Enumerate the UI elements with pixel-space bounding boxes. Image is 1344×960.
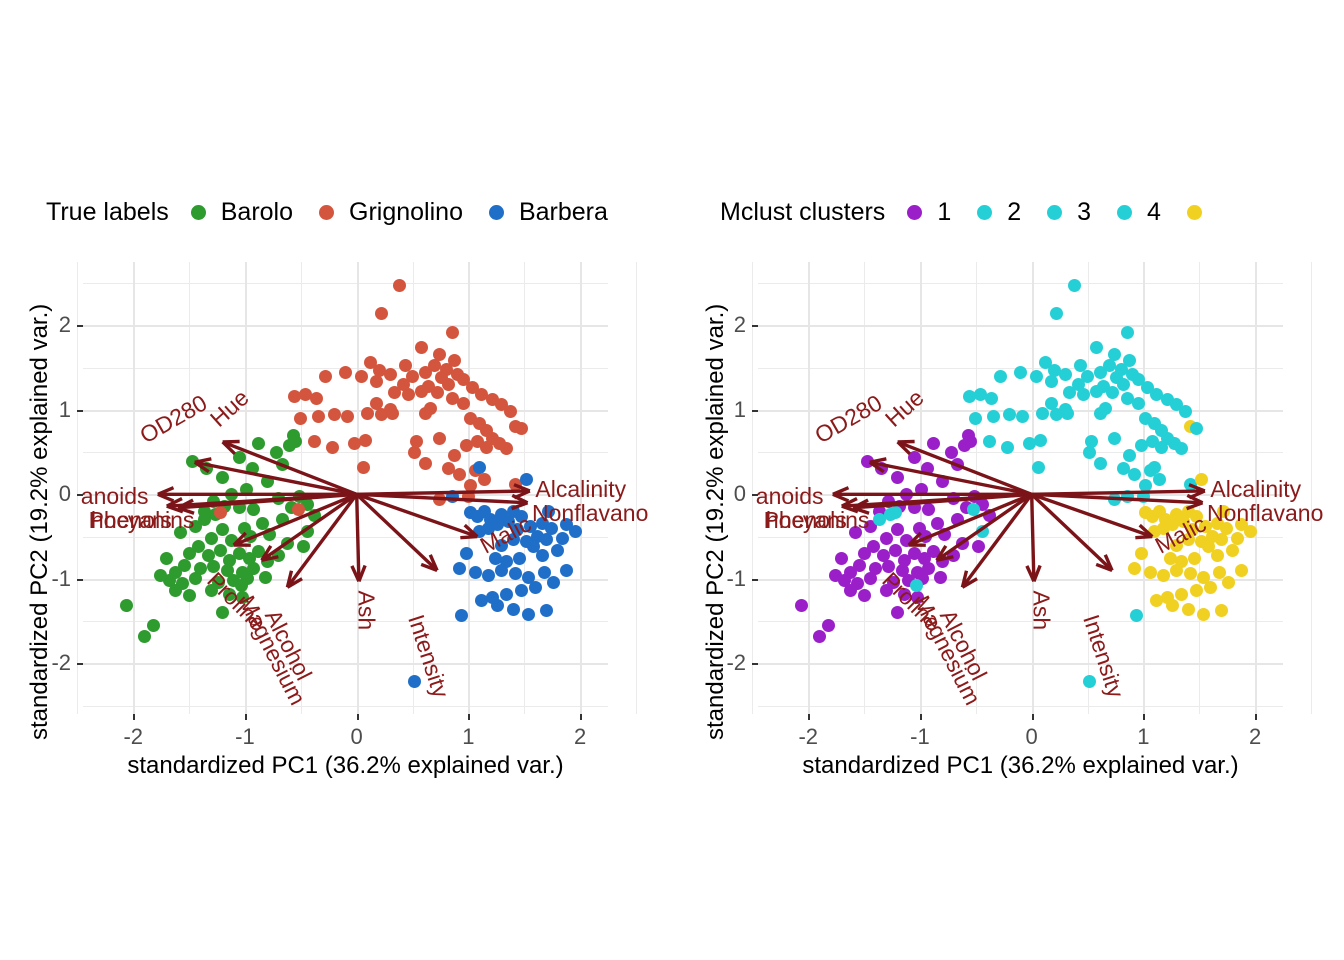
legend-item[interactable]: Barbera <box>489 198 608 227</box>
y-tick-label: -2 <box>706 650 746 676</box>
y-tick-mark <box>752 579 758 581</box>
scatter-point <box>889 506 902 519</box>
scatter-point <box>861 455 874 468</box>
scatter-point <box>1204 581 1217 594</box>
scatter-point <box>1030 370 1043 383</box>
scatter-point <box>1016 410 1029 423</box>
loading-arrow-malic <box>1032 494 1153 536</box>
scatter-point <box>1090 385 1103 398</box>
legend-item[interactable]: Barolo <box>191 198 293 227</box>
scatter-point <box>964 435 977 448</box>
y-tick-mark <box>77 579 83 581</box>
scatter-point <box>1190 584 1203 597</box>
scatter-point <box>985 392 998 405</box>
scatter-point <box>189 572 202 585</box>
scatter-point <box>915 483 928 496</box>
scatter-point <box>1123 449 1136 462</box>
scatter-point <box>478 473 491 486</box>
scatter-point <box>507 603 520 616</box>
scatter-point <box>357 461 370 474</box>
scatter-point <box>292 503 305 516</box>
gridline-minor-vertical <box>752 262 753 714</box>
scatter-point <box>900 534 913 547</box>
gridline-minor-vertical <box>864 262 865 714</box>
scatter-point <box>393 279 406 292</box>
x-tick-label: -1 <box>900 724 940 750</box>
scatter-point <box>880 532 893 545</box>
scatter-point <box>457 397 470 410</box>
x-tick-label: -2 <box>788 724 828 750</box>
scatter-point <box>276 458 289 471</box>
scatter-point <box>419 366 432 379</box>
gridline-minor-horizontal <box>83 452 608 453</box>
scatter-point <box>308 435 321 448</box>
legend-item[interactable]: Grignolino <box>319 198 463 227</box>
scatter-point <box>301 525 314 538</box>
scatter-point <box>453 562 466 575</box>
arrowhead-icon <box>512 495 527 502</box>
scatter-point <box>1215 533 1228 546</box>
x-tick-label: 1 <box>448 724 488 750</box>
scatter-point <box>522 608 535 621</box>
legend-item[interactable] <box>1187 205 1217 220</box>
scatter-point <box>348 437 361 450</box>
x-tick-mark <box>920 714 922 720</box>
gridline-major-horizontal <box>758 663 1283 665</box>
scatter-point <box>515 584 528 597</box>
scatter-point <box>1135 547 1148 560</box>
arrowhead-icon <box>833 488 849 495</box>
scatter-point <box>956 537 969 550</box>
gridline-major-horizontal <box>83 494 608 496</box>
scatter-point <box>938 528 951 541</box>
scatter-point <box>154 569 167 582</box>
scatter-point <box>520 473 533 486</box>
scatter-point <box>835 552 848 565</box>
scatter-point <box>994 370 1007 383</box>
scatter-point <box>1121 490 1134 503</box>
panel-mclust-clusters: Mclust clusters1234 standardized PC2 (19… <box>690 0 1344 960</box>
loading-arrow-intensity <box>1032 494 1112 570</box>
scatter-point <box>509 567 522 580</box>
legend-item[interactable]: 2 <box>977 198 1021 227</box>
legend-label: Barolo <box>221 198 293 227</box>
y-tick-mark <box>752 494 758 496</box>
scatter-point <box>972 540 985 553</box>
x-tick-mark <box>580 714 582 720</box>
panel-true-labels: True labelsBaroloGrignolinoBarbera stand… <box>0 0 690 960</box>
scatter-point <box>540 533 553 546</box>
x-tick-label: 2 <box>1235 724 1275 750</box>
scatter-point <box>947 549 960 562</box>
scatter-point <box>1106 386 1119 399</box>
scatter-point <box>1059 403 1072 416</box>
scatter-point <box>138 630 151 643</box>
scatter-point <box>328 408 341 421</box>
gridline-major-vertical <box>357 262 359 714</box>
legend-swatch-icon <box>191 205 206 220</box>
scatter-point <box>1215 604 1228 617</box>
scatter-point <box>951 458 964 471</box>
scatter-point <box>370 375 383 388</box>
scatter-point <box>415 385 428 398</box>
scatter-point <box>1175 588 1188 601</box>
scatter-point <box>900 488 913 501</box>
scatter-point <box>200 462 213 475</box>
arrowhead-icon <box>842 499 857 507</box>
scatter-point <box>976 525 989 538</box>
scatter-point <box>294 412 307 425</box>
loading-arrow-intensity <box>357 494 437 570</box>
loading-label-intensity: Intensity <box>402 611 454 701</box>
scatter-point <box>448 354 461 367</box>
y-tick-label: 0 <box>706 481 746 507</box>
scatter-point <box>569 525 582 538</box>
arrowhead-icon <box>167 499 182 507</box>
scatter-point <box>1211 549 1224 562</box>
scatter-point <box>259 571 272 584</box>
scatter-point <box>1231 532 1244 545</box>
x-tick-mark <box>1032 714 1034 720</box>
scatter-point <box>244 530 257 543</box>
scatter-point <box>319 370 332 383</box>
legend-swatch-icon <box>489 205 504 220</box>
scatter-point <box>1135 439 1148 452</box>
scatter-point <box>1014 366 1027 379</box>
scatter-point <box>462 490 475 503</box>
y-tick-label: 0 <box>31 481 71 507</box>
x-tick-label: 1 <box>1123 724 1163 750</box>
scatter-point <box>375 307 388 320</box>
legend-swatch-icon <box>1187 205 1202 220</box>
scatter-point <box>453 468 466 481</box>
x-tick-label: -1 <box>225 724 265 750</box>
scatter-point <box>921 462 934 475</box>
gridline-minor-horizontal <box>83 621 608 622</box>
scatter-point <box>233 501 246 514</box>
scatter-point <box>276 513 289 526</box>
legend-swatch-icon <box>907 205 922 220</box>
scatter-point <box>355 370 368 383</box>
scatter-point <box>198 513 211 526</box>
scatter-point <box>1034 434 1047 447</box>
y-tick-mark <box>752 663 758 665</box>
scatter-point <box>983 509 996 522</box>
scatter-point <box>433 493 446 506</box>
loading-label-proanthocyanins: hocyanins <box>766 507 870 534</box>
y-tick-mark <box>77 325 83 327</box>
scatter-point <box>446 326 459 339</box>
loading-vectors <box>758 262 1283 714</box>
scatter-point <box>225 488 238 501</box>
loading-arrow-malic <box>357 494 478 536</box>
x-axis-label: standardized PC1 (36.2% explained var.) <box>758 752 1283 780</box>
gridline-minor-horizontal <box>758 621 1283 622</box>
arrowhead-icon <box>1187 495 1202 502</box>
y-tick-mark <box>77 410 83 412</box>
gridline-minor-horizontal <box>83 283 608 284</box>
x-axis-label: standardized PC1 (36.2% explained var.) <box>83 752 608 780</box>
loading-label-od280: OD280 <box>810 389 887 449</box>
scatter-point <box>1090 341 1103 354</box>
scatter-point <box>1166 599 1179 612</box>
scatter-point <box>408 446 421 459</box>
scatter-point <box>1226 544 1239 557</box>
x-tick-label: 0 <box>1012 724 1052 750</box>
scatter-point <box>515 422 528 435</box>
scatter-point <box>1083 446 1096 459</box>
gridline-minor-vertical <box>636 262 637 714</box>
gridline-minor-vertical <box>524 262 525 714</box>
scatter-point <box>864 572 877 585</box>
scatter-point <box>1157 569 1170 582</box>
scatter-point <box>983 435 996 448</box>
legend-label: 1 <box>937 198 951 227</box>
scatter-point <box>1153 473 1166 486</box>
scatter-point <box>1235 564 1248 577</box>
scatter-point <box>551 544 564 557</box>
scatter-point <box>297 540 310 553</box>
scatter-point <box>1001 441 1014 454</box>
gridline-major-horizontal <box>83 663 608 665</box>
scatter-point <box>281 537 294 550</box>
scatter-point <box>1023 437 1036 450</box>
x-tick-label: -2 <box>113 724 153 750</box>
scatter-point <box>384 368 397 381</box>
scatter-point <box>1094 457 1107 470</box>
scatter-point <box>1148 461 1161 474</box>
y-tick-mark <box>752 410 758 412</box>
scatter-point <box>120 599 133 612</box>
legend-mclust-clusters: Mclust clusters1234 <box>720 198 1243 227</box>
arrowhead-icon <box>158 488 174 495</box>
scatter-point <box>402 388 415 401</box>
scatter-point <box>967 503 980 516</box>
legend-label: Barbera <box>519 198 608 227</box>
scatter-point <box>446 490 459 503</box>
scatter-point <box>289 435 302 448</box>
scatter-point <box>160 552 173 565</box>
scatter-point <box>1128 562 1141 575</box>
scatter-point <box>1150 594 1163 607</box>
gridline-minor-horizontal <box>758 283 1283 284</box>
scatter-point <box>969 412 982 425</box>
x-tick-mark <box>468 714 470 720</box>
scatter-point <box>1128 468 1141 481</box>
scatter-point <box>240 483 253 496</box>
gridline-major-horizontal <box>758 325 1283 327</box>
scatter-point <box>341 410 354 423</box>
scatter-point <box>460 547 473 560</box>
y-tick-mark <box>77 663 83 665</box>
scatter-point <box>1108 432 1121 445</box>
scatter-point <box>415 341 428 354</box>
scatter-point <box>147 619 160 632</box>
legend-label: 2 <box>1007 198 1021 227</box>
scatter-point <box>183 589 196 602</box>
scatter-point <box>272 492 285 505</box>
arrowhead-icon <box>1105 555 1112 571</box>
scatter-point <box>963 390 976 403</box>
y-tick-label: 1 <box>706 397 746 423</box>
scatter-point <box>370 397 383 410</box>
scatter-point <box>216 471 229 484</box>
gridline-major-horizontal <box>758 494 1283 496</box>
scatter-point <box>225 534 238 547</box>
scatter-point <box>560 564 573 577</box>
loading-label-nonflavanoid: Nonflavano <box>532 500 648 527</box>
scatter-point <box>469 566 482 579</box>
scatter-point <box>359 434 372 447</box>
scatter-point <box>1083 675 1096 688</box>
scatter-point <box>927 437 940 450</box>
loading-label-intensity: Intensity <box>1077 611 1129 701</box>
scatter-point <box>288 390 301 403</box>
y-tick-label: -1 <box>706 566 746 592</box>
loading-label-proanthocyanins: hocyanins <box>91 507 195 534</box>
scatter-point <box>475 594 488 607</box>
scatter-point <box>384 403 397 416</box>
scatter-point <box>205 532 218 545</box>
scatter-point <box>233 451 246 464</box>
y-tick-label: 1 <box>31 397 71 423</box>
scatter-point <box>1117 378 1130 391</box>
scatter-point <box>919 530 932 543</box>
scatter-point <box>908 501 921 514</box>
legend-item[interactable]: 4 <box>1117 198 1161 227</box>
gridline-minor-horizontal <box>83 706 608 707</box>
scatter-point <box>1094 366 1107 379</box>
legend-swatch-icon <box>319 205 334 220</box>
scatter-point <box>540 604 553 617</box>
x-tick-label: 0 <box>337 724 377 750</box>
scatter-point <box>270 446 283 459</box>
scatter-point <box>500 442 513 455</box>
scatter-point <box>1059 368 1072 381</box>
scatter-point <box>547 576 560 589</box>
scatter-point <box>1063 386 1076 399</box>
legend-label: 3 <box>1077 198 1091 227</box>
scatter-point <box>1222 576 1235 589</box>
x-tick-mark <box>245 714 247 720</box>
scatter-point <box>951 513 964 526</box>
x-tick-label: 2 <box>560 724 600 750</box>
scatter-point <box>822 619 835 632</box>
arrowhead-icon <box>1096 564 1112 570</box>
scatter-point <box>500 588 513 601</box>
gridline-minor-vertical <box>1199 262 1200 714</box>
scatter-point <box>169 584 182 597</box>
legend-label: 4 <box>1147 198 1161 227</box>
scatter-point <box>829 569 842 582</box>
scatter-point <box>1137 490 1150 503</box>
scatter-point <box>252 437 265 450</box>
y-tick-mark <box>77 494 83 496</box>
legend-true-labels: True labelsBaroloGrignolinoBarbera <box>46 198 634 227</box>
scatter-point <box>460 439 473 452</box>
scatter-point <box>1045 375 1058 388</box>
gridline-minor-vertical <box>1311 262 1312 714</box>
scatter-point <box>934 571 947 584</box>
scatter-point <box>261 475 274 488</box>
scatter-point <box>1175 442 1188 455</box>
y-tick-label: 2 <box>31 312 71 338</box>
scatter-point <box>388 386 401 399</box>
scatter-point <box>339 366 352 379</box>
scatter-point <box>186 455 199 468</box>
scatter-point <box>1077 388 1090 401</box>
loading-vectors <box>83 262 608 714</box>
scatter-point <box>1182 603 1195 616</box>
scatter-point <box>987 410 1000 423</box>
scatter-point <box>1184 567 1197 580</box>
scatter-point <box>1195 473 1208 486</box>
legend-swatch-icon <box>1047 205 1062 220</box>
scatter-point <box>448 449 461 462</box>
scatter-point <box>891 471 904 484</box>
scatter-point <box>442 378 455 391</box>
legend-swatch-icon <box>1117 205 1132 220</box>
scatter-point <box>1244 525 1257 538</box>
scatter-point <box>431 386 444 399</box>
scatter-point <box>945 446 958 459</box>
y-tick-label: -1 <box>31 566 71 592</box>
loading-label-ash: Ash <box>1027 590 1054 630</box>
scatter-point <box>858 589 871 602</box>
scatter-point <box>1179 405 1192 418</box>
scatter-point <box>1197 608 1210 621</box>
scatter-point <box>214 506 227 519</box>
scatter-point <box>424 402 437 415</box>
y-tick-mark <box>752 325 758 327</box>
scatter-point <box>263 528 276 541</box>
scatter-point <box>1108 493 1121 506</box>
scatter-point <box>1045 397 1058 410</box>
gridline-minor-vertical <box>77 262 78 714</box>
scatter-point <box>1068 279 1081 292</box>
loading-label-nonflavanoid: Nonflavano <box>1207 500 1323 527</box>
scatter-point <box>1190 422 1203 435</box>
biplot-figure: True labelsBaroloGrignolinoBarbera stand… <box>0 0 1344 960</box>
plot-area-left: AlcoholMalicAshAlcalinityMagnesiumPhenol… <box>83 262 608 714</box>
gridline-minor-vertical <box>189 262 190 714</box>
scatter-point <box>947 492 960 505</box>
scatter-point <box>491 599 504 612</box>
scatter-point <box>1121 326 1134 339</box>
legend-item[interactable]: 3 <box>1047 198 1091 227</box>
legend-title: True labels <box>46 198 169 227</box>
scatter-point <box>536 549 549 562</box>
scatter-point <box>326 441 339 454</box>
scatter-point <box>433 432 446 445</box>
y-tick-label: -2 <box>31 650 71 676</box>
scatter-point <box>1170 564 1183 577</box>
scatter-point <box>504 405 517 418</box>
x-tick-mark <box>1143 714 1145 720</box>
scatter-point <box>795 599 808 612</box>
scatter-point <box>495 564 508 577</box>
scatter-point <box>419 457 432 470</box>
x-tick-mark <box>808 714 810 720</box>
scatter-point <box>873 513 886 526</box>
plot-area-right: AlcoholMalicAshAlcalinityMagnesiumPhenol… <box>758 262 1283 714</box>
scatter-point <box>1050 307 1063 320</box>
legend-label: Grignolino <box>349 198 463 227</box>
loading-label-od280: OD280 <box>135 389 212 449</box>
legend-item[interactable]: 1 <box>907 198 951 227</box>
loading-label-ash: Ash <box>352 590 379 630</box>
y-tick-label: 2 <box>706 312 746 338</box>
